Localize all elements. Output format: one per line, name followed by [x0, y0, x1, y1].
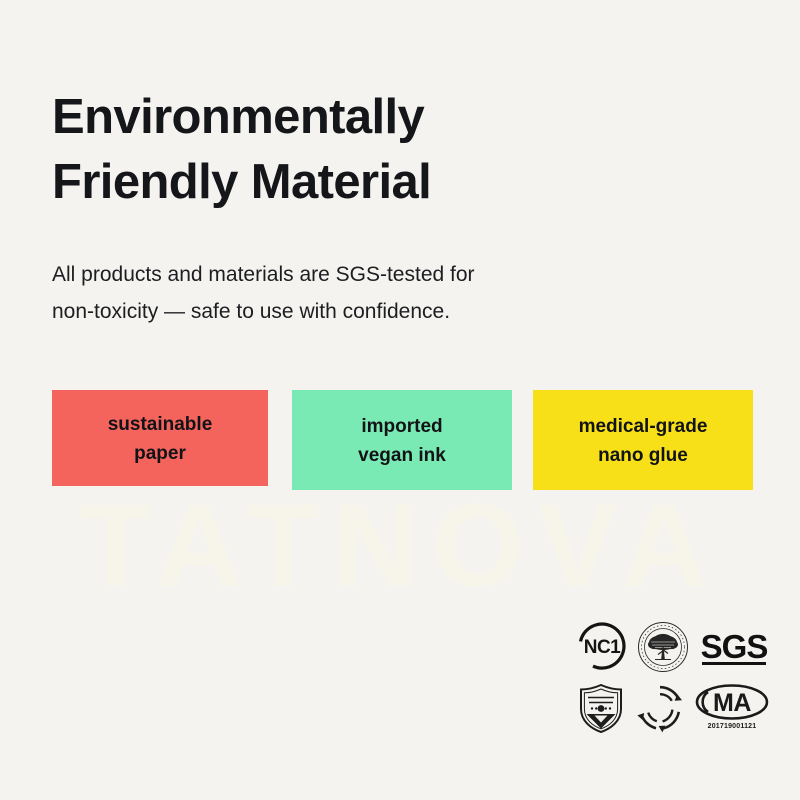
brand-watermark: TATNOVA	[0, 487, 800, 605]
certification-badges-row-1: NC1	[576, 620, 768, 678]
page-title: Environmentally Friendly Material	[52, 85, 692, 214]
nc1-certification-badge-icon: NC1	[576, 620, 628, 672]
material-chip-sustainable-paper: sustainable paper	[52, 390, 268, 486]
material-chip-line1: imported	[361, 412, 442, 441]
cma-certification-code: 201719001121	[708, 723, 757, 730]
certification-badges-row-2: MA 201719001121	[576, 682, 768, 740]
poster-canvas: TATNOVA Environmentally Friendly Materia…	[0, 0, 800, 800]
material-chip-line2: paper	[134, 439, 186, 468]
shield-certification-badge-icon	[576, 682, 626, 734]
cma-certification-badge-icon: MA 201719001121	[694, 682, 770, 730]
material-chip-line2: vegan ink	[358, 441, 446, 470]
recycling-certification-badge-icon	[634, 682, 686, 734]
material-chip-line1: medical-grade	[579, 412, 708, 441]
material-chip-line1: sustainable	[108, 410, 213, 439]
fsc-tree-certification-badge-icon	[636, 620, 690, 674]
svg-text:MA: MA	[713, 689, 751, 717]
material-chip-medical-grade-nano-glue: medical-grade nano glue	[533, 390, 753, 490]
svg-text:SGS: SGS	[701, 628, 768, 665]
material-chip-imported-vegan-ink: imported vegan ink	[292, 390, 512, 490]
sgs-certification-badge-icon: SGS	[698, 620, 770, 672]
svg-text:NC1: NC1	[584, 637, 621, 658]
material-chip-line2: nano glue	[598, 441, 688, 470]
certification-badges: NC1	[576, 620, 768, 740]
material-chip-group: sustainable paper imported vegan ink med…	[52, 388, 756, 492]
page-subtitle: All products and materials are SGS-teste…	[52, 257, 652, 331]
